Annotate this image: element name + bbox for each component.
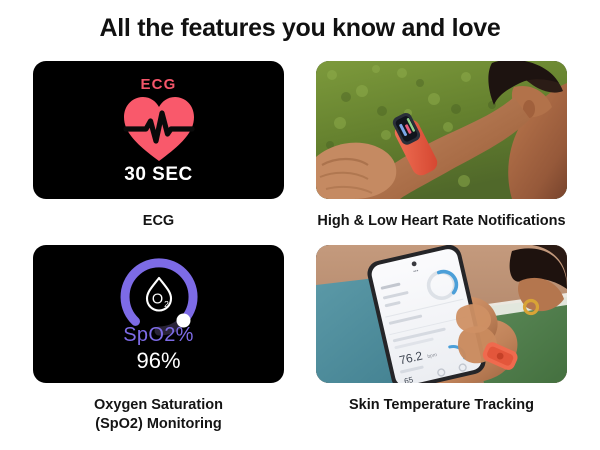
photo-phone-health-app: ••• [316, 245, 567, 383]
ecg-duration-label: 30 SEC [33, 164, 284, 186]
feature-caption-skin-temperature: Skin Temperature Tracking [314, 396, 569, 416]
svg-text:O: O [151, 291, 162, 307]
features-grid: ECG 30 SEC ECG [33, 61, 567, 435]
spo2-metric-value: 96% [33, 348, 284, 374]
feature-card-ecg[interactable]: ECG 30 SEC ECG [33, 61, 284, 232]
photo-grass-wrist-tracker [316, 61, 567, 199]
water-drop-o2-icon: O 2 [147, 278, 171, 311]
feature-row: O 2 SpO2% 96% Oxygen Saturation (SpO2) M… [33, 245, 567, 435]
ecg-tile[interactable]: ECG 30 SEC [33, 61, 284, 199]
spo2-tile[interactable]: O 2 SpO2% 96% [33, 245, 284, 383]
caption-line: Oxygen Saturation [31, 396, 286, 416]
heart-with-pulse-icon [33, 94, 284, 164]
svg-text:2: 2 [164, 299, 169, 309]
feature-caption-ecg: ECG [31, 212, 286, 232]
feature-card-heart-rate-notifications[interactable]: High & Low Heart Rate Notifications [316, 61, 567, 232]
feature-card-skin-temperature[interactable]: ••• [316, 245, 567, 435]
caption-line: (SpO2) Monitoring [31, 415, 286, 435]
feature-caption-heart-rate-notifications: High & Low Heart Rate Notifications [314, 212, 569, 232]
page-title: All the features you know and love [0, 14, 600, 43]
feature-grid-page: All the features you know and love ECG 3… [0, 0, 600, 450]
spo2-metric-label: SpO2% [33, 324, 284, 347]
feature-row: ECG 30 SEC ECG [33, 61, 567, 232]
feature-card-spo2[interactable]: O 2 SpO2% 96% Oxygen Saturation (SpO2) M… [33, 245, 284, 435]
heart-rate-photo-tile[interactable] [316, 61, 567, 199]
feature-caption-spo2: Oxygen Saturation (SpO2) Monitoring [31, 396, 286, 435]
skin-temperature-photo-tile[interactable]: ••• [316, 245, 567, 383]
ecg-tile-title: ECG [33, 76, 284, 93]
